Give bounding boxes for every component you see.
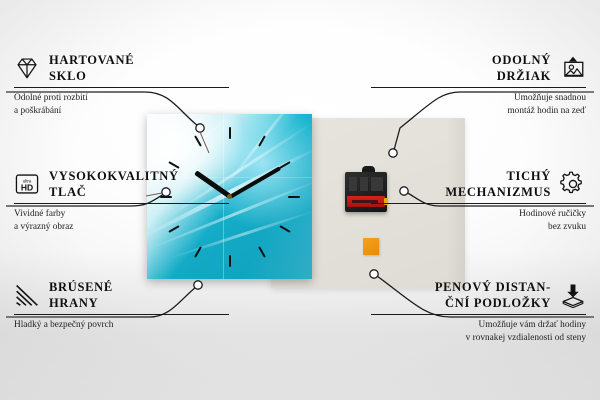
feature-title: PENOVÝ DISTAN- ČNÍ PODLOŽKY	[435, 279, 551, 311]
divider	[14, 203, 229, 204]
feature-header: HARTOVANÉ SKLO	[14, 52, 229, 84]
hour-mark	[229, 255, 231, 267]
feature-title: ODOLNÝ DRŽIAK	[492, 52, 551, 84]
feature-description: Odolné proti rozbití a poškrábání	[14, 92, 229, 117]
svg-text:HD: HD	[21, 183, 33, 193]
feature-description: Hodinové ručičky bez zvuku	[371, 208, 586, 233]
feature-description: Umožňuje snadnou montáž hodin na zeď	[371, 92, 586, 117]
feature-title: BRÚSENÉ HRANY	[49, 279, 113, 311]
feature-polished-edges: BRÚSENÉ HRANY Hladký a bezpečný povrch	[14, 279, 229, 332]
feature-description: Hladký a bezpečný povrch	[14, 319, 229, 332]
polished-edges-icon	[14, 282, 40, 308]
divider	[14, 87, 229, 88]
gear-icon	[560, 171, 586, 197]
divider	[371, 314, 586, 315]
ultra-hd-icon: ultra HD	[14, 171, 40, 197]
feature-high-quality-print: ultra HD VYSOKOKVALITNÝ TLAČ Vividné far…	[14, 168, 229, 233]
divider	[14, 314, 229, 315]
feature-durable-hanger: ODOLNÝ DRŽIAK Umožňuje snadnou montáž ho…	[371, 52, 586, 117]
feature-silent-mechanism: TICHÝ MECHANIZMUS Hodinové ručičky bez z…	[371, 168, 586, 233]
feature-description: Vividné farby a výrazný obraz	[14, 208, 229, 233]
hour-mark	[229, 127, 231, 139]
feature-title: VYSOKOKVALITNÝ TLAČ	[49, 168, 179, 200]
foam-spacer-icon	[560, 282, 586, 308]
feature-header: ODOLNÝ DRŽIAK	[371, 52, 586, 84]
feature-header: PENOVÝ DISTAN- ČNÍ PODLOŽKY	[371, 279, 586, 311]
feature-header: ultra HD VYSOKOKVALITNÝ TLAČ	[14, 168, 229, 200]
feature-title: TICHÝ MECHANIZMUS	[445, 168, 551, 200]
picture-frame-hanger-icon	[560, 55, 586, 81]
feature-tempered-glass: HARTOVANÉ SKLO Odolné proti rozbití a po…	[14, 52, 229, 117]
diamond-icon	[14, 55, 40, 81]
divider	[371, 203, 586, 204]
feature-foam-spacers: PENOVÝ DISTAN- ČNÍ PODLOŽKY Umožňuje vám…	[371, 279, 586, 344]
feature-description: Umožňuje vám držať hodiny v rovnakej vzd…	[371, 319, 586, 344]
hour-mark	[288, 196, 300, 198]
feature-header: TICHÝ MECHANIZMUS	[371, 168, 586, 200]
foam-spacer-pad	[363, 238, 379, 255]
feature-header: BRÚSENÉ HRANY	[14, 279, 229, 311]
infographic-canvas: HARTOVANÉ SKLO Odolné proti rozbití a po…	[0, 0, 600, 400]
divider	[371, 87, 586, 88]
feature-title: HARTOVANÉ SKLO	[49, 52, 134, 84]
